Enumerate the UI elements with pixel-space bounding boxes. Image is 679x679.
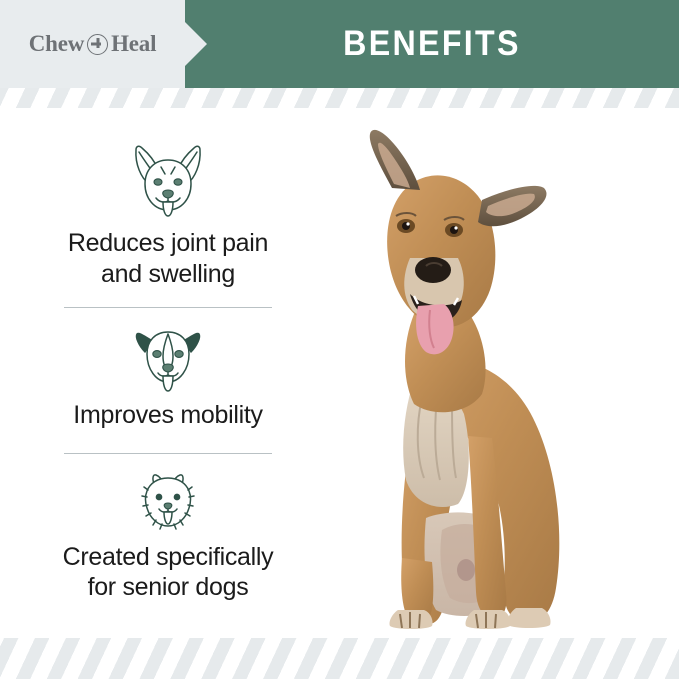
stripe-band-top: [0, 88, 679, 108]
page-title: BENEFITS: [205, 0, 659, 88]
benefit-text-3-line-1: Created specifically: [28, 542, 308, 573]
benefit-divider-2: [64, 453, 272, 454]
brand-name-chew: Chew: [29, 31, 84, 57]
benefit-text-2: Improves mobility: [28, 400, 308, 431]
benefit-item-1: Reduces joint pain and swelling: [8, 140, 328, 289]
benefits-infographic: Chew Heal BENEFITS: [0, 0, 679, 679]
benefits-list: Reduces joint pain and swelling: [8, 140, 328, 603]
samoyed-dog-face-icon: [132, 470, 204, 536]
stripe-band-bottom: [0, 638, 679, 679]
benefit-text-2-line-1: Improves mobility: [28, 400, 308, 431]
benefit-divider-1: [64, 307, 272, 308]
brand-name-heal: Heal: [111, 31, 156, 57]
benefit-text-3: Created specifically for senior dogs: [28, 542, 308, 603]
header-bar: Chew Heal BENEFITS: [0, 0, 679, 88]
benefit-item-2: Improves mobility: [8, 324, 328, 431]
brand-logo: Chew Heal: [0, 0, 185, 88]
sitting-tan-dog-photo: [318, 118, 676, 630]
circled-plus-icon: [87, 34, 108, 55]
benefit-text-1-line-1: Reduces joint pain: [28, 228, 308, 259]
benefit-text-1: Reduces joint pain and swelling: [28, 228, 308, 289]
benefit-text-1-line-2: and swelling: [28, 259, 308, 290]
corgi-dog-face-icon: [125, 140, 211, 222]
terrier-dog-face-icon: [129, 324, 207, 394]
benefit-item-3: Created specifically for senior dogs: [8, 470, 328, 603]
benefit-text-3-line-2: for senior dogs: [28, 572, 308, 603]
